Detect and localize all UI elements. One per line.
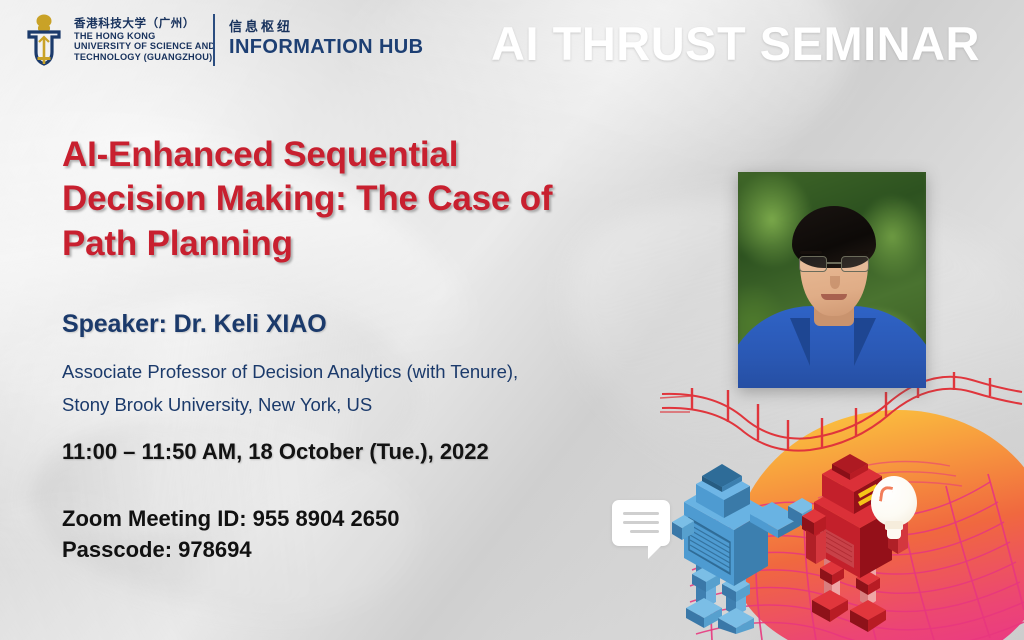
portrait-eyebrow-right [846,251,868,254]
logo-university-cn: 香港科技大学（广州） [74,18,215,31]
glasses-bridge [827,262,841,264]
portrait-eyebrow-left [800,251,822,254]
hub-label-cn: 信息枢纽 [229,16,424,35]
bulb-glint [879,485,893,503]
hkust-logo: 香港科技大学（广州） THE HONG KONG UNIVERSITY OF S… [24,14,215,66]
bubble-text-line [623,512,659,515]
speaker-portrait [738,172,926,388]
portrait-collar-left [790,318,810,366]
information-hub-logo: 信息枢纽 INFORMATION HUB [229,16,424,59]
zoom-meeting-id: Zoom Meeting ID: 955 8904 2650 [62,503,399,534]
portrait-glasses-icon [796,256,872,272]
zoom-details: Zoom Meeting ID: 955 8904 2650 Passcode:… [62,503,399,565]
logo-university-en-3: TECHNOLOGY (GUANGZHOU) [74,52,215,62]
speech-bubble-icon [612,500,670,546]
bubble-text-line [630,530,659,533]
poster-header: 香港科技大学（广州） THE HONG KONG UNIVERSITY OF S… [0,0,1024,82]
glasses-lens-right [841,256,869,272]
bubble-text-line [623,521,659,524]
portrait-collar-right [854,318,876,366]
speaker-affiliation-line-1: Associate Professor of Decision Analytic… [62,356,518,389]
glasses-lens-left [799,256,827,272]
seminar-poster: 香港科技大学（广州） THE HONG KONG UNIVERSITY OF S… [0,0,1024,640]
speaker-name: Speaker: Dr. Keli XIAO [62,310,327,339]
speaker-affiliation: Associate Professor of Decision Analytic… [62,356,518,422]
seminar-series-label: AI THRUST SEMINAR [491,16,980,71]
portrait-nose [830,276,840,289]
talk-title-line-2: Decision Making: The Case of [62,177,702,221]
talk-title-line-3: Path Planning [62,222,702,266]
bulb-base [887,529,901,539]
zoom-passcode: Passcode: 978694 [62,534,399,565]
seminar-datetime: 11:00 – 11:50 AM, 18 October (Tue.), 202… [62,439,489,465]
talk-title-line-1: AI-Enhanced Sequential [62,133,702,177]
robotics-illustration [590,370,1024,640]
portrait-mouth [821,294,847,300]
talk-title: AI-Enhanced Sequential Decision Making: … [62,133,702,266]
speaker-affiliation-line-2: Stony Brook University, New York, US [62,389,518,422]
header-divider [213,14,215,66]
blue-robot-icon [672,462,812,634]
lightbulb-icon [868,476,920,544]
logo-university-en-1: THE HONG KONG [74,31,215,41]
logo-university-en-2: UNIVERSITY OF SCIENCE AND [74,41,215,51]
hub-label-en: INFORMATION HUB [229,36,424,59]
hkust-crest-icon [24,14,64,66]
